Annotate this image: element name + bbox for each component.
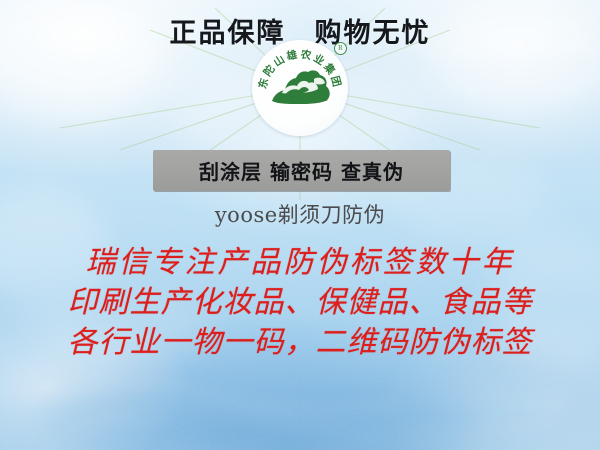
- marketing-copy-line-2: 印刷生产化妆品、保健品、食品等: [0, 283, 600, 323]
- poster-canvas: 正品保障 购物无忧 东陀山雄农业集团 R 刮涂层 输密码 查真伪: [0, 0, 600, 450]
- marketing-copy-line-3: 各行业一物一码，二维码防伪标签: [0, 323, 600, 363]
- registered-trademark-icon: R: [334, 42, 347, 55]
- brand-logo: 东陀山雄农业集团 R: [252, 40, 348, 136]
- logo-emblem-icon: 东陀山雄农业集团: [252, 40, 348, 136]
- instruction-banner: 刮涂层 输密码 查真伪: [153, 150, 450, 191]
- marketing-copy-block: 瑞信专注产品防伪标签数十年 印刷生产化妆品、保健品、食品等 各行业一物一码，二维…: [0, 243, 600, 363]
- product-subtitle: yoose剃须刀防伪: [0, 199, 600, 229]
- instruction-banner-text: 刮涂层 输密码 查真伪: [199, 156, 404, 185]
- marketing-copy-line-1: 瑞信专注产品防伪标签数十年: [0, 243, 600, 283]
